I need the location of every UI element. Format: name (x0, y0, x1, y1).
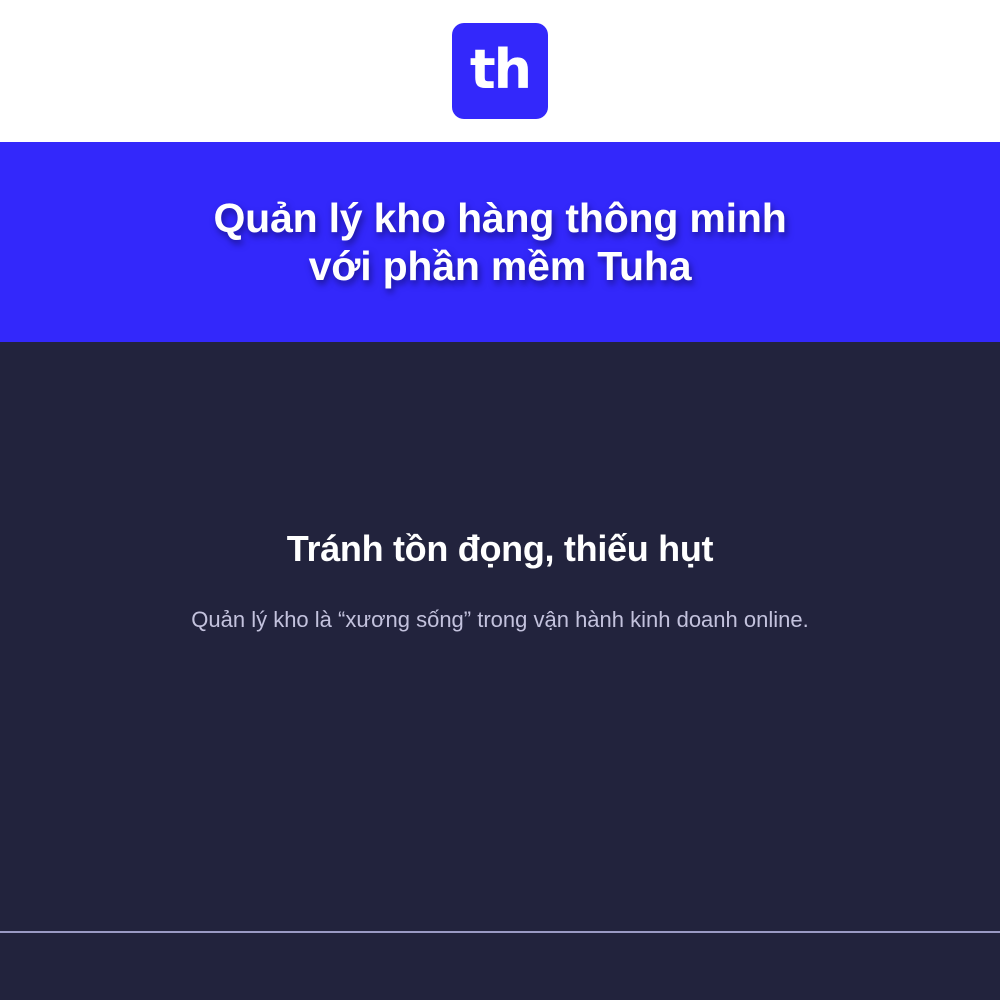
page-root: th Quản lý kho hàng thông minh với phần … (0, 0, 1000, 1000)
page-header: th (0, 0, 1000, 142)
hero-title: Quản lý kho hàng thông minh với phần mềm… (0, 194, 1000, 290)
section-subtitle: Quản lý kho là “xương sống” trong vận hà… (0, 605, 1000, 635)
section-heading: Tránh tồn đọng, thiếu hụt (0, 527, 1000, 571)
tuha-logo-icon[interactable]: th (452, 23, 548, 119)
hero-banner: Quản lý kho hàng thông minh với phần mềm… (0, 142, 1000, 342)
section-divider (0, 931, 1000, 933)
content-section: Tránh tồn đọng, thiếu hụt Quản lý kho là… (0, 342, 1000, 1000)
hero-title-line-1: Quản lý kho hàng thông minh (0, 194, 1000, 242)
logo-wordmark: th (470, 43, 530, 97)
hero-title-line-2: với phần mềm Tuha (0, 242, 1000, 290)
